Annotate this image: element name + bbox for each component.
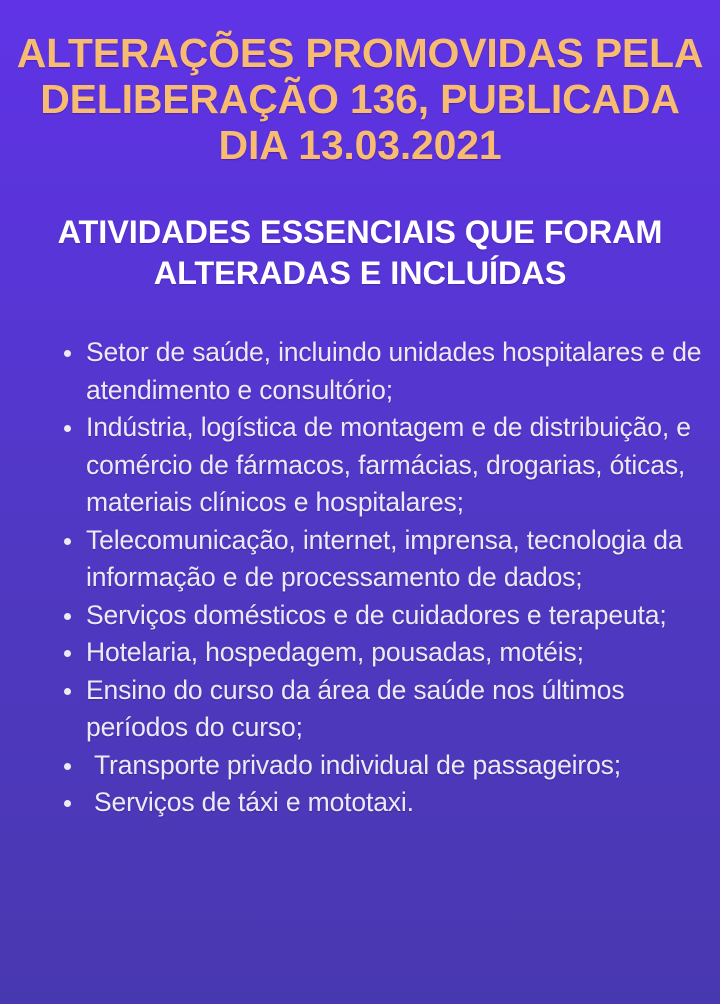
list-item: Serviços de táxi e mototaxi.: [60, 784, 714, 822]
title-line-2: DELIBERAÇÃO 136, PUBLICADA: [0, 76, 720, 122]
subtitle-line-1: ATIVIDADES ESSENCIAIS QUE FORAM: [0, 212, 720, 253]
list-item: Telecomunicação, internet, imprensa, tec…: [60, 522, 714, 597]
poster-canvas: ALTERAÇÕES PROMOVIDAS PELA DELIBERAÇÃO 1…: [0, 0, 720, 1004]
list-item: Transporte privado individual de passage…: [60, 747, 714, 785]
title-line-1: ALTERAÇÕES PROMOVIDAS PELA: [0, 30, 720, 76]
list-item: Setor de saúde, incluindo unidades hospi…: [60, 334, 714, 409]
title-line-3: DIA 13.03.2021: [0, 122, 720, 168]
title-block: ALTERAÇÕES PROMOVIDAS PELA DELIBERAÇÃO 1…: [0, 0, 720, 168]
subtitle-block: ATIVIDADES ESSENCIAIS QUE FORAM ALTERADA…: [0, 212, 720, 294]
list-item: Ensino do curso da área de saúde nos últ…: [60, 672, 714, 747]
subtitle-line-2: ALTERADAS E INCLUÍDAS: [0, 253, 720, 294]
list-item: Hotelaria, hospedagem, pousadas, motéis;: [60, 634, 714, 672]
list-item: Indústria, logística de montagem e de di…: [60, 409, 714, 522]
essential-activities-list: Setor de saúde, incluindo unidades hospi…: [0, 334, 720, 822]
list-item: Serviços domésticos e de cuidadores e te…: [60, 597, 714, 635]
